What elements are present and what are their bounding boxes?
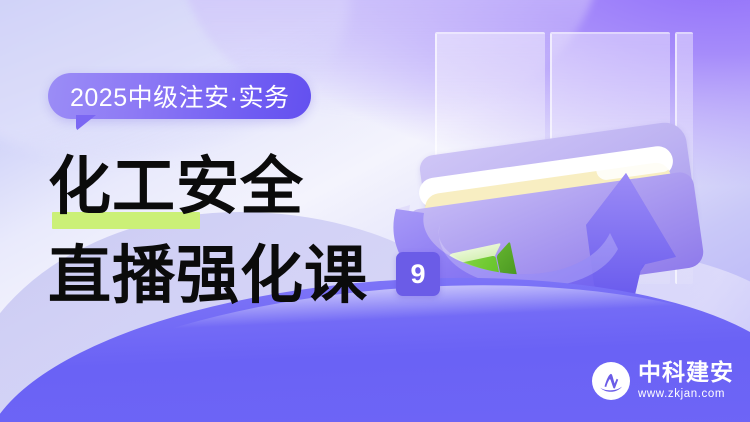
course-category-label: 2025中级注安·实务 <box>70 78 289 114</box>
course-title-text-1: 化工安全 <box>48 149 304 223</box>
course-category-badge: 2025中级注安·实务 <box>48 73 311 119</box>
banner-text-content: 2025中级注安·实务 化工安全 直播强化课 9 <box>48 0 468 422</box>
zkjan-monogram-icon <box>592 362 630 400</box>
episode-number-badge: 9 <box>396 252 440 296</box>
brand-logo: 中科建安 www.zkjan.com <box>592 362 734 401</box>
brand-logo-text: 中科建安 www.zkjan.com <box>638 362 734 401</box>
brand-name: 中科建安 <box>638 362 734 385</box>
badge-tail-icon <box>76 115 96 131</box>
course-title-line-1: 化工安全 <box>48 150 468 222</box>
course-title-text-2: 直播强化课 <box>48 238 368 312</box>
course-title: 化工安全 直播强化课 9 <box>48 150 468 312</box>
episode-number-label: 9 <box>410 261 425 288</box>
course-banner: 2025中级注安·实务 化工安全 直播强化课 9 中科建安 <box>0 0 750 422</box>
brand-url: www.zkjan.com <box>638 389 734 401</box>
course-title-line-2: 直播强化课 9 <box>48 238 468 312</box>
